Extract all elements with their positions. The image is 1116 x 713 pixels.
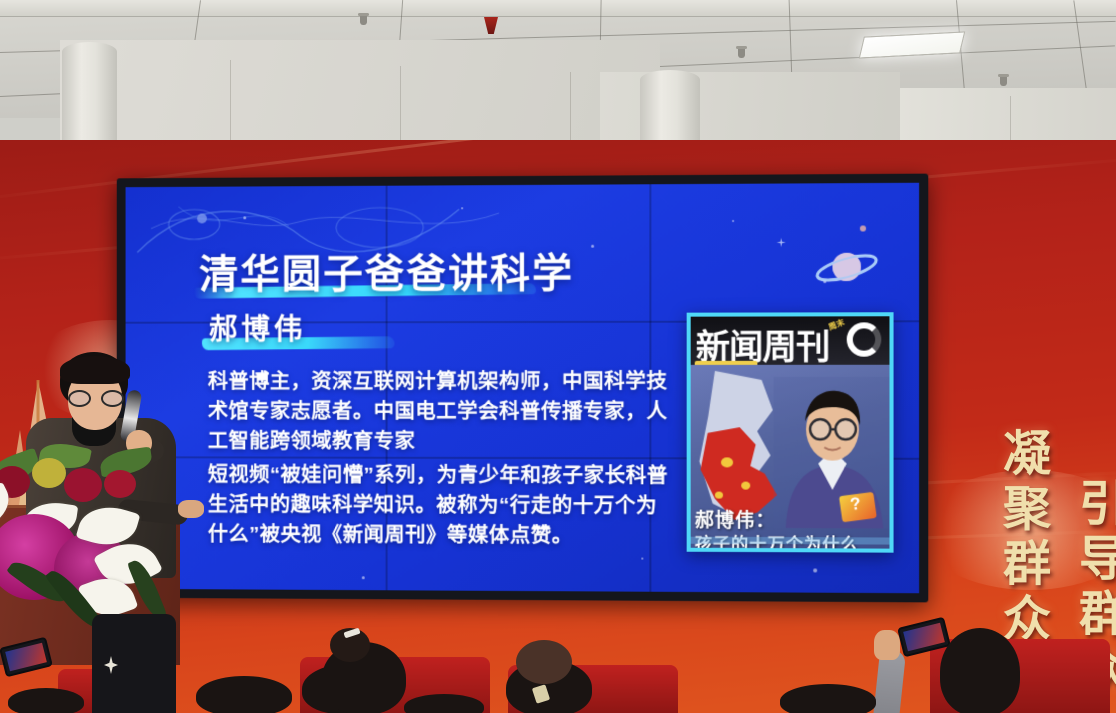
- screenshot-root: 凝聚群众 引导群众: [0, 0, 1116, 713]
- audience-head: [780, 684, 876, 713]
- magazine-header: 新闻周刊 周末: [691, 316, 890, 365]
- hair-bun: [516, 640, 572, 684]
- presenter-fringe: [60, 356, 130, 384]
- slide-speaker-name: 郝博伟: [209, 306, 307, 348]
- sprinkler-head-icon: [360, 15, 367, 25]
- slide-title: 清华圆子爸爸讲科学: [199, 241, 574, 300]
- sprinkler-head-icon: [1000, 76, 1007, 86]
- saturn-planet-icon: [813, 246, 884, 296]
- hanging-coat: [92, 614, 176, 713]
- magazine-corner-text: 周末: [827, 318, 846, 332]
- smartphone-camera[interactable]: [0, 637, 53, 678]
- led-video-wall[interactable]: 清华圆子爸爸讲科学 郝博伟 科普博主，资深互联网计算机架构师，中国科学技术馆专家…: [117, 174, 929, 603]
- magazine-screenshot-card: 新闻周刊 周末 人物: [687, 312, 894, 552]
- program-logo-icon: [839, 492, 877, 523]
- audience-head: [404, 694, 484, 713]
- slide-paragraph-works: 短视频“被娃问懵”系列，为青少年和孩子家长科普生活中的趣味科学知识。被称为“行走…: [208, 460, 678, 551]
- magazine-ring-logo-icon: [847, 322, 882, 356]
- audience-head: [940, 628, 1020, 713]
- audience-head: [8, 688, 84, 713]
- slide-paragraph-bio: 科普博主，资深互联网计算机架构师，中国科学技术馆专家志愿者。中国电工学会科普传播…: [208, 367, 678, 457]
- magazine-photo-body: 郝博伟： 孩子的十万个为什么: [691, 365, 890, 549]
- audience-head: [196, 676, 292, 713]
- caption-strip: [691, 537, 890, 545]
- audience-area: [0, 600, 1116, 713]
- presentation-slide[interactable]: 清华圆子爸爸讲科学 郝博伟 科普博主，资深互联网计算机架构师，中国科学技术馆专家…: [126, 183, 920, 593]
- raised-hand: [874, 630, 900, 660]
- glasses-icon: [68, 390, 124, 407]
- sprinkler-head-icon: [738, 48, 745, 58]
